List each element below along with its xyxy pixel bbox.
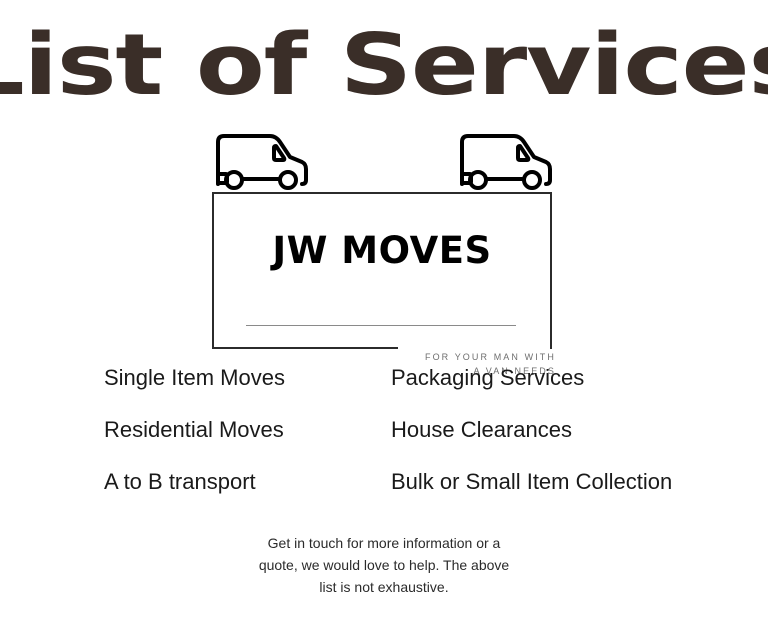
services-poster: List of Services bbox=[0, 0, 768, 624]
delivery-van-icon bbox=[212, 128, 310, 190]
frame-top-border bbox=[212, 192, 552, 194]
footer-note-line-1: Get in touch for more information or a bbox=[0, 532, 768, 554]
service-item: Residential Moves bbox=[104, 404, 394, 456]
services-column-right: Packaging Services House Clearances Bulk… bbox=[391, 352, 721, 508]
service-item: Bulk or Small Item Collection bbox=[391, 456, 721, 508]
footer-note: Get in touch for more information or a q… bbox=[0, 532, 768, 598]
service-item: Single Item Moves bbox=[104, 352, 394, 404]
service-item: House Clearances bbox=[391, 404, 721, 456]
logo-wordmark: JW MOVES bbox=[212, 230, 552, 272]
services-column-left: Single Item Moves Residential Moves A to… bbox=[104, 352, 394, 508]
jw-moves-logo: JW MOVES FOR YOUR MAN WITH A VAN NEEDS bbox=[212, 128, 556, 324]
delivery-van-icon bbox=[456, 128, 554, 190]
service-item: A to B transport bbox=[104, 456, 394, 508]
service-item: Packaging Services bbox=[391, 352, 721, 404]
footer-note-line-3: list is not exhaustive. bbox=[0, 576, 768, 598]
frame-bottom-border bbox=[212, 347, 398, 349]
logo-frame: JW MOVES FOR YOUR MAN WITH A VAN NEEDS bbox=[212, 192, 552, 349]
services-list: Single Item Moves Residential Moves A to… bbox=[0, 352, 768, 502]
footer-note-line-2: quote, we would love to help. The above bbox=[0, 554, 768, 576]
logo-divider-rule bbox=[246, 325, 516, 326]
page-title: List of Services bbox=[0, 14, 768, 118]
